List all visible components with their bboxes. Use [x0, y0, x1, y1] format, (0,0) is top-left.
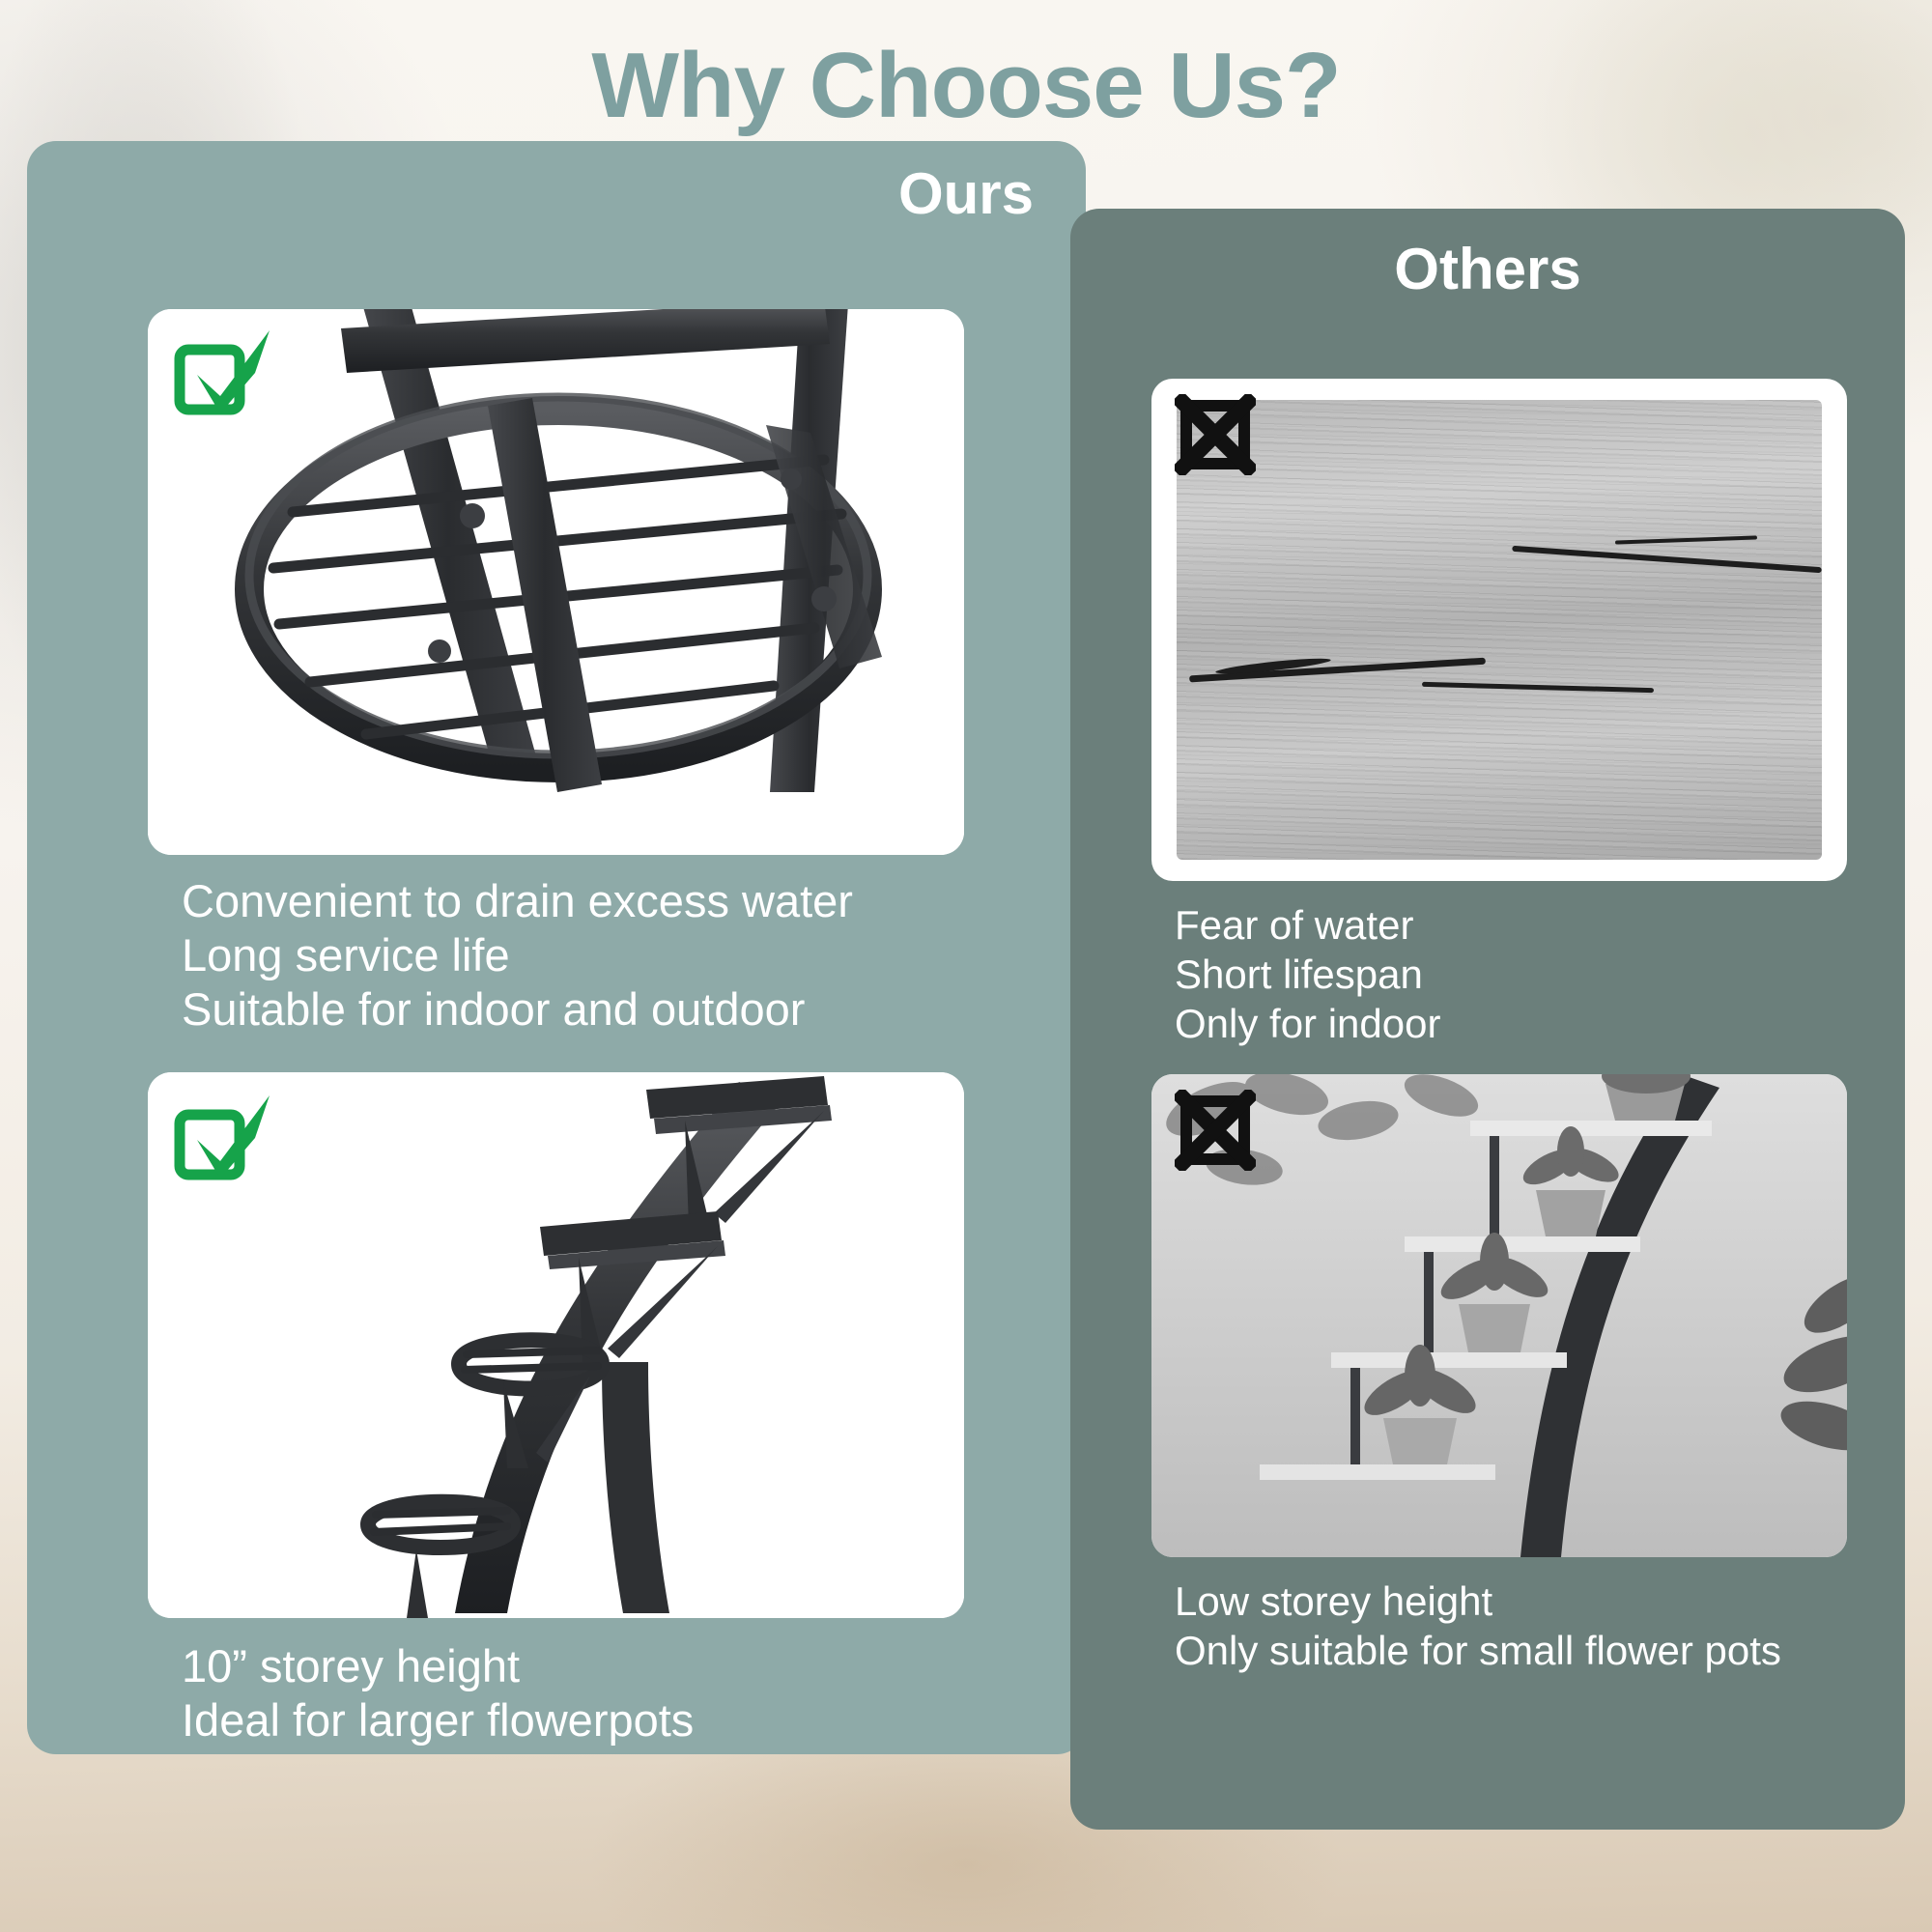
- others-image-card-2: [1151, 1074, 1847, 1557]
- page-title: Why Choose Us?: [0, 33, 1932, 139]
- wood-plank-illustration: [1177, 400, 1822, 860]
- check-icon-ours-1: [174, 325, 278, 417]
- bullet-line: Convenient to drain excess water: [182, 874, 853, 928]
- bullet-line: Ideal for larger flowerpots: [182, 1693, 694, 1747]
- bullet-line: Low storey height: [1175, 1577, 1781, 1626]
- bullet-line: Only suitable for small flower pots: [1175, 1626, 1781, 1675]
- bullet-line: Fear of water: [1175, 900, 1440, 950]
- infographic-root: Why Choose Us? Ours: [0, 0, 1932, 1932]
- bullet-line: 10” storey height: [182, 1639, 694, 1693]
- check-icon-ours-2: [174, 1090, 278, 1182]
- bullet-line: Long service life: [182, 928, 853, 982]
- bullet-line: Short lifespan: [1175, 950, 1440, 999]
- ours-bullets-2: 10” storey height Ideal for larger flowe…: [182, 1639, 694, 1747]
- ours-bullets-1: Convenient to drain excess water Long se…: [182, 874, 853, 1037]
- bullet-line: Suitable for indoor and outdoor: [182, 982, 853, 1037]
- cross-icon-others-1: [1175, 394, 1256, 475]
- panel-others-title: Others: [1070, 236, 1905, 302]
- others-bullets-1: Fear of water Short lifespan Only for in…: [1175, 900, 1440, 1048]
- cross-icon-others-2: [1175, 1090, 1256, 1171]
- others-bullets-2: Low storey height Only suitable for smal…: [1175, 1577, 1781, 1675]
- others-image-card-1: [1151, 379, 1847, 881]
- bullet-line: Only for indoor: [1175, 999, 1440, 1048]
- low-shelf-scene-illustration: [1151, 1074, 1847, 1557]
